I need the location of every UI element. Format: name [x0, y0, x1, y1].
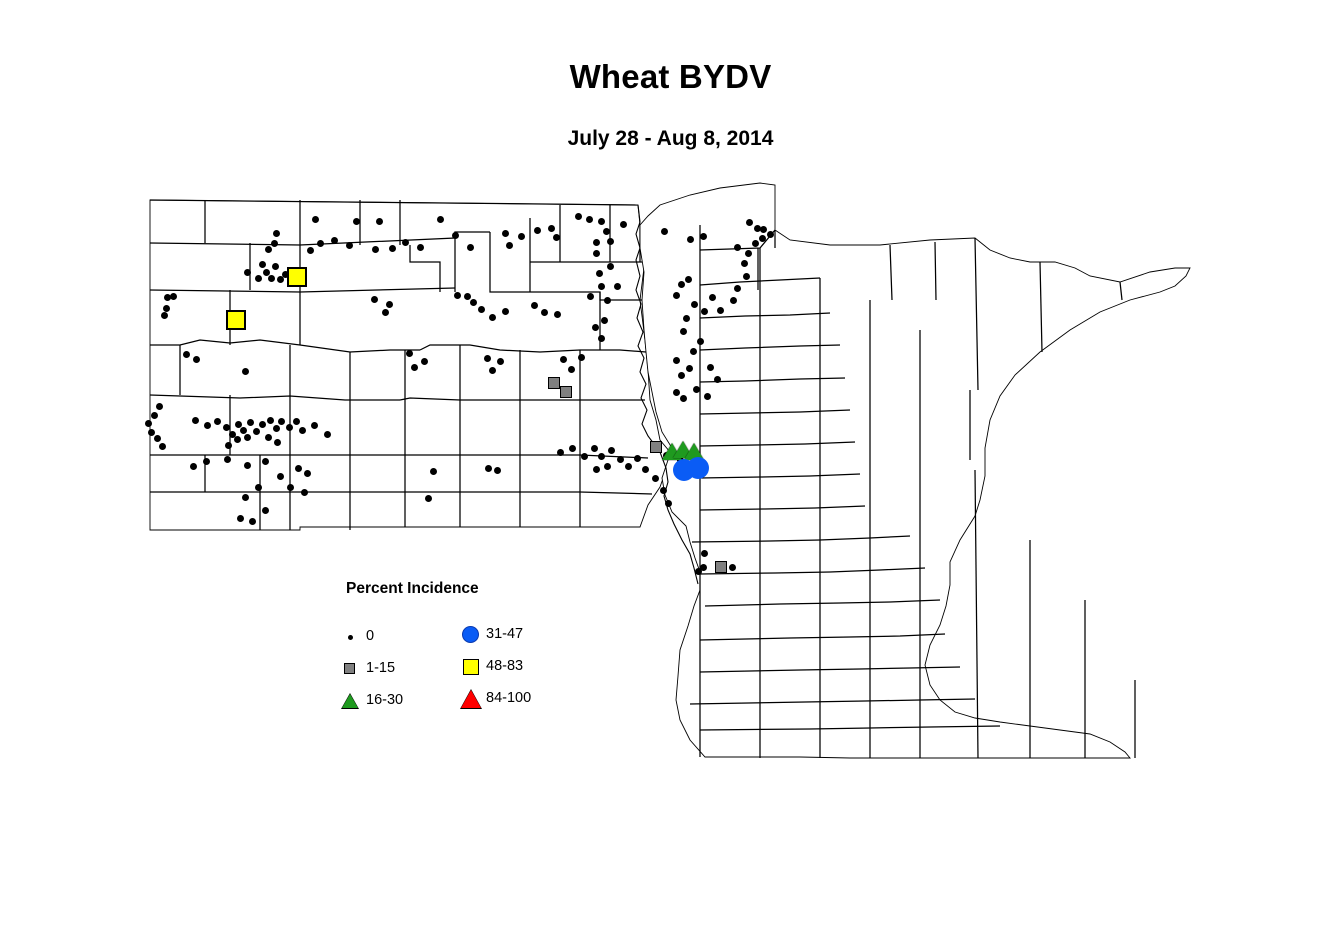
sample-point-zero: [569, 445, 576, 452]
sample-point-zero: [382, 309, 389, 316]
sample-point-zero: [665, 500, 672, 507]
sample-point-zero: [673, 389, 680, 396]
sample-point-zero: [625, 463, 632, 470]
sample-point-zero: [437, 216, 444, 223]
sample-point-zero: [607, 238, 614, 245]
sample-point-zero: [271, 240, 278, 247]
sample-point-zero: [598, 218, 605, 225]
sample-point-zero: [578, 354, 585, 361]
sample-point-zero: [690, 348, 697, 355]
sample-point-zero: [634, 455, 641, 462]
sample-point-zero: [608, 447, 615, 454]
sample-point-zero: [247, 419, 254, 426]
sample-point-zero: [467, 244, 474, 251]
sample-point-zero: [151, 412, 158, 419]
legend-symbol-gray-square: [340, 658, 364, 680]
sample-point-zero: [265, 246, 272, 253]
sample-point-zero: [709, 294, 716, 301]
sample-point-zero: [234, 436, 241, 443]
sample-point-zero: [478, 306, 485, 313]
sample-point-1-15: [650, 441, 662, 453]
sample-point-zero: [331, 237, 338, 244]
sample-point-zero: [603, 228, 610, 235]
sample-point-zero: [307, 247, 314, 254]
sample-point-zero: [277, 473, 284, 480]
legend-label-4: 48-83: [486, 658, 523, 674]
sample-point-zero: [743, 273, 750, 280]
sample-point-zero: [642, 466, 649, 473]
sample-point-zero: [454, 292, 461, 299]
sample-point-zero: [607, 263, 614, 270]
sample-point-zero: [237, 515, 244, 522]
sample-point-zero: [255, 484, 262, 491]
sample-point-zero: [604, 297, 611, 304]
sample-point-zero: [154, 435, 161, 442]
sample-point-zero: [286, 424, 293, 431]
sample-point-zero: [293, 418, 300, 425]
sample-point-zero: [586, 216, 593, 223]
sample-point-zero: [760, 226, 767, 233]
sample-point-zero: [741, 260, 748, 267]
sample-point-zero: [273, 230, 280, 237]
sample-point-zero: [301, 489, 308, 496]
sample-point-zero: [148, 429, 155, 436]
sample-point-zero: [553, 234, 560, 241]
sample-point-zero: [729, 564, 736, 571]
legend-symbol-red-triangle: [460, 688, 484, 710]
sample-point-zero: [402, 239, 409, 246]
sample-point-zero: [489, 314, 496, 321]
sample-point-zero: [273, 425, 280, 432]
sample-point-zero: [759, 235, 766, 242]
sample-point-zero: [557, 449, 564, 456]
sample-point-zero: [299, 427, 306, 434]
sample-point-zero: [346, 242, 353, 249]
sample-point-zero: [518, 233, 525, 240]
sample-point-zero: [255, 275, 262, 282]
sample-point-zero: [734, 285, 741, 292]
sample-point-zero: [253, 428, 260, 435]
sample-point-zero: [235, 421, 242, 428]
sample-point-zero: [548, 225, 555, 232]
sample-point-zero: [452, 232, 459, 239]
sample-point-zero: [707, 364, 714, 371]
sample-point-zero: [312, 216, 319, 223]
sample-point-zero: [489, 367, 496, 374]
sample-point-zero: [587, 293, 594, 300]
sample-point-zero: [223, 424, 230, 431]
sample-point-zero: [683, 315, 690, 322]
sample-point-zero: [767, 231, 774, 238]
sample-point-zero: [259, 421, 266, 428]
sample-point-zero: [484, 355, 491, 362]
sample-point-zero: [701, 550, 708, 557]
sample-point-zero: [560, 356, 567, 363]
sample-point-zero: [601, 317, 608, 324]
sample-point-zero: [752, 240, 759, 247]
sample-point-zero: [406, 350, 413, 357]
sample-point-zero: [278, 418, 285, 425]
sample-point-zero: [272, 263, 279, 270]
sample-point-zero: [593, 466, 600, 473]
sample-point-zero: [534, 227, 541, 234]
sample-point-zero: [411, 364, 418, 371]
sample-point-zero: [190, 463, 197, 470]
sample-point-zero: [249, 518, 256, 525]
sample-point-zero: [704, 393, 711, 400]
sample-point-zero: [240, 427, 247, 434]
sample-point-zero: [311, 422, 318, 429]
sample-point-zero: [680, 328, 687, 335]
legend-symbol-dot: [340, 626, 364, 648]
sample-point-zero: [531, 302, 538, 309]
sample-point-1-15: [715, 561, 727, 573]
sample-point-zero: [697, 338, 704, 345]
sample-point-zero: [242, 494, 249, 501]
sample-point-zero: [745, 250, 752, 257]
sample-point-zero: [244, 269, 251, 276]
sample-point-zero: [685, 276, 692, 283]
legend-symbol-yellow-square: [460, 656, 484, 678]
sample-point-zero: [673, 357, 680, 364]
sample-point-zero: [695, 568, 702, 575]
sample-point-zero: [224, 456, 231, 463]
sample-point-zero: [661, 228, 668, 235]
sample-point-zero: [593, 239, 600, 246]
sample-point-zero: [417, 244, 424, 251]
sample-point-zero: [274, 439, 281, 446]
sample-point-zero: [421, 358, 428, 365]
sample-point-zero: [596, 270, 603, 277]
sample-point-zero: [678, 281, 685, 288]
sample-point-zero: [598, 453, 605, 460]
sample-point-zero: [262, 458, 269, 465]
sample-point-zero: [604, 463, 611, 470]
legend-label-0: 0: [366, 628, 374, 644]
sample-point-zero: [156, 403, 163, 410]
sample-point-zero: [170, 293, 177, 300]
sample-point-zero: [598, 335, 605, 342]
sample-point-zero: [717, 307, 724, 314]
sample-point-zero: [598, 283, 605, 290]
sample-point-48-83: [287, 267, 307, 287]
sample-point-zero: [183, 351, 190, 358]
sample-point-1-15: [560, 386, 572, 398]
sample-point-zero: [376, 218, 383, 225]
sample-point-zero: [652, 475, 659, 482]
legend: Percent Incidence 0 1-15 16-30 31-47: [330, 580, 590, 710]
sample-point-zero: [497, 358, 504, 365]
sample-point-zero: [317, 240, 324, 247]
sample-point-zero: [259, 261, 266, 268]
sample-point-zero: [159, 443, 166, 450]
sample-point-zero: [304, 470, 311, 477]
sample-point-zero: [244, 434, 251, 441]
sample-point-zero: [371, 296, 378, 303]
sample-point-zero: [691, 301, 698, 308]
sample-point-zero: [192, 417, 199, 424]
sample-point-zero: [295, 465, 302, 472]
sample-point-zero: [506, 242, 513, 249]
sample-point-zero: [389, 245, 396, 252]
sample-point-zero: [673, 292, 680, 299]
sample-point-zero: [568, 366, 575, 373]
sample-point-zero: [592, 324, 599, 331]
legend-label-5: 84-100: [486, 690, 531, 706]
sample-point-zero: [680, 395, 687, 402]
sample-point-zero: [575, 213, 582, 220]
sample-point-zero: [593, 250, 600, 257]
legend-symbol-green-triangle: [340, 690, 364, 712]
sample-point-zero: [734, 244, 741, 251]
sample-point-48-83: [226, 310, 246, 330]
sample-point-zero: [730, 297, 737, 304]
sample-point-zero: [161, 312, 168, 319]
sample-point-zero: [268, 275, 275, 282]
sample-point-zero: [204, 422, 211, 429]
sample-point-zero: [617, 456, 624, 463]
sample-point-zero: [700, 233, 707, 240]
sample-point-zero: [203, 458, 210, 465]
sample-point-zero: [193, 356, 200, 363]
sample-point-zero: [262, 507, 269, 514]
sample-point-zero: [502, 230, 509, 237]
sample-point-zero: [244, 462, 251, 469]
sample-point-zero: [287, 484, 294, 491]
sample-point-zero: [678, 372, 685, 379]
sample-point-zero: [591, 445, 598, 452]
sample-point-zero: [353, 218, 360, 225]
legend-label-2: 16-30: [366, 692, 403, 708]
sample-point-zero: [714, 376, 721, 383]
legend-title: Percent Incidence: [346, 580, 479, 598]
legend-label-3: 31-47: [486, 626, 523, 642]
sample-point-31-47: [687, 457, 709, 479]
sample-point-zero: [660, 487, 667, 494]
sample-point-zero: [145, 420, 152, 427]
sample-point-zero: [214, 418, 221, 425]
map-page: Wheat BYDV July 28 - Aug 8, 2014: [0, 0, 1341, 926]
sample-point-zero: [614, 283, 621, 290]
sample-point-zero: [324, 431, 331, 438]
sample-point-zero: [502, 308, 509, 315]
sample-point-zero: [693, 386, 700, 393]
sample-point-zero: [372, 246, 379, 253]
legend-label-1: 1-15: [366, 660, 395, 676]
legend-symbol-blue-circle: [460, 624, 484, 646]
sample-point-zero: [265, 434, 272, 441]
sample-point-zero: [701, 308, 708, 315]
sample-point-zero: [386, 301, 393, 308]
sample-point-1-15: [548, 377, 560, 389]
sample-point-zero: [267, 417, 274, 424]
sample-point-zero: [470, 299, 477, 306]
sample-point-zero: [554, 311, 561, 318]
sample-point-zero: [430, 468, 437, 475]
sample-point-zero: [263, 269, 270, 276]
sample-point-zero: [464, 293, 471, 300]
sample-point-zero: [687, 236, 694, 243]
sample-point-zero: [225, 442, 232, 449]
sample-point-zero: [581, 453, 588, 460]
sample-point-zero: [242, 368, 249, 375]
sample-point-zero: [620, 221, 627, 228]
sample-point-zero: [163, 305, 170, 312]
sample-point-zero: [485, 465, 492, 472]
sample-point-zero: [425, 495, 432, 502]
sample-point-zero: [494, 467, 501, 474]
sample-point-zero: [541, 309, 548, 316]
sample-points-layer: [0, 0, 1341, 926]
sample-point-zero: [746, 219, 753, 226]
sample-point-zero: [686, 365, 693, 372]
